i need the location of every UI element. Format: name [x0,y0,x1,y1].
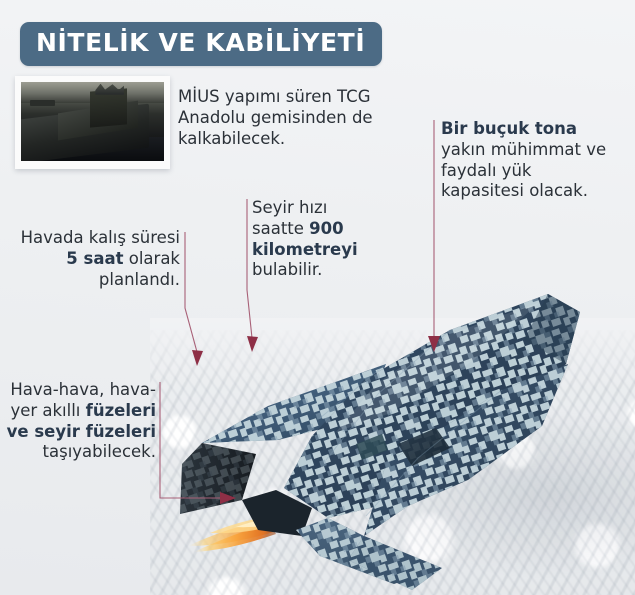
page-title-text: NİTELİK VE KABİLİYETİ [36,28,365,57]
callout-payload-capacity: Bir buçuk tona yakın mühimmat ve faydalı… [441,119,616,202]
mius-kizilelma-jet-illustration [150,268,620,595]
callout-endurance: Havada kalış süresi 5 saat olarak planla… [8,228,180,290]
infographic-canvas: NİTELİK VE KABİLİYETİ [0,0,635,595]
page-title: NİTELİK VE KABİLİYETİ [20,22,382,66]
callout-cruise-speed: Seyir hızı saatte 900 kilometreyi bulabi… [252,198,377,281]
tcg-anadolu-photo-frame [15,76,170,169]
callout-endurance-text: Havada kalış süresi 5 saat olarak planla… [8,228,180,290]
callout-payload-capacity-text: Bir buçuk tona yakın mühimmat ve faydalı… [441,119,616,202]
callout-cruise-speed-text: Seyir hızı saatte 900 kilometreyi bulabi… [252,198,377,281]
callout-missile-armament: Hava-hava, hava-yer akıllı füzeleri ve s… [6,380,156,463]
callout-missile-armament-text: Hava-hava, hava-yer akıllı füzeleri ve s… [6,380,156,463]
photo-distant-ship [30,100,56,106]
tcg-anadolu-photo-image [21,82,164,161]
callout-carrier-launch-text: MİUS yapımı süren TCG Anadolu gemisinden… [178,87,410,149]
callout-carrier-launch: MİUS yapımı süren TCG Anadolu gemisinden… [178,87,410,149]
